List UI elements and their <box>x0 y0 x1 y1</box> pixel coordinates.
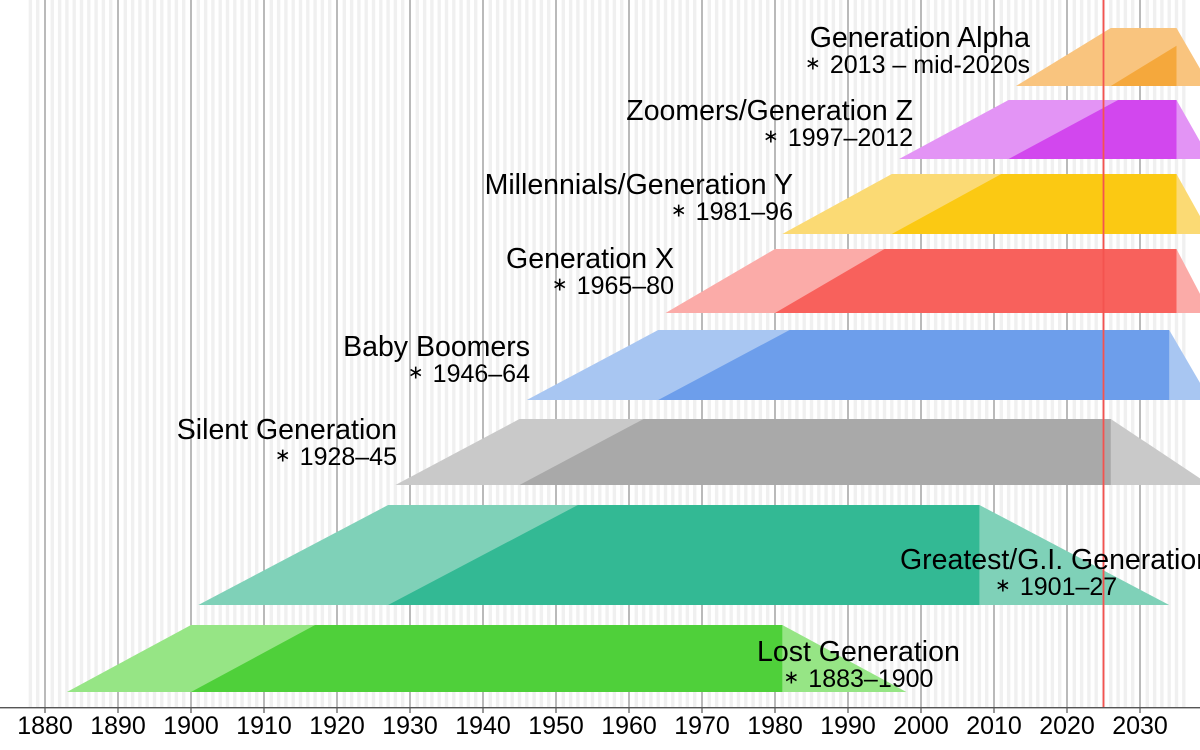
generation-name: Lost Generation <box>757 638 960 667</box>
generation-label: Zoomers/Generation Z∗ 1997–2012 <box>626 97 913 152</box>
x-tick-label: 1920 <box>309 712 365 741</box>
generation-years-text: 1928–45 <box>293 443 397 471</box>
generation-years-text: 1883–1900 <box>801 665 933 693</box>
generation-label: Silent Generation∗ 1928–45 <box>177 416 397 471</box>
generation-label: Generation X∗ 1965–80 <box>506 245 674 300</box>
x-tick-label: 1940 <box>455 712 511 741</box>
x-tick-label: 1890 <box>90 712 146 741</box>
generation-name: Generation Alpha <box>805 24 1030 53</box>
generation-years-text: 1946–64 <box>426 360 530 388</box>
generations-timeline-chart: 1880189019001910192019301940195019601970… <box>0 0 1200 750</box>
x-tick-label: 1960 <box>601 712 657 741</box>
generation-name: Silent Generation <box>177 416 397 445</box>
generation-years-text: 1997–2012 <box>781 124 913 152</box>
generation-years-text: 1965–80 <box>570 272 674 300</box>
generation-years: ∗ 1901–27 <box>900 575 1200 601</box>
generation-years: ∗ 1981–96 <box>485 200 793 226</box>
x-tick-label: 1910 <box>236 712 292 741</box>
generation-label: Greatest/G.I. Generation∗ 1901–27 <box>900 546 1200 601</box>
birth-asterisk-icon: ∗ <box>552 275 570 296</box>
generation-years-text: 1901–27 <box>1013 573 1117 601</box>
birth-asterisk-icon: ∗ <box>408 363 426 384</box>
generation-label: Lost Generation∗ 1883–1900 <box>757 638 960 693</box>
x-tick-label: 1900 <box>163 712 219 741</box>
generation-years-text: 1981–96 <box>689 198 793 226</box>
generation-name: Greatest/G.I. Generation <box>900 546 1200 575</box>
birth-asterisk-icon: ∗ <box>783 668 801 689</box>
generation-years: ∗ 1946–64 <box>343 362 530 388</box>
birth-asterisk-icon: ∗ <box>805 54 823 75</box>
birth-asterisk-icon: ∗ <box>275 446 293 467</box>
generation-years: ∗ 1928–45 <box>177 445 397 471</box>
birth-asterisk-icon: ∗ <box>671 201 689 222</box>
generation-name: Baby Boomers <box>343 333 530 362</box>
generation-name: Millennials/Generation Y <box>485 171 793 200</box>
generation-label: Generation Alpha∗ 2013 – mid-2020s <box>805 24 1030 79</box>
x-tick-label: 1930 <box>382 712 438 741</box>
x-tick-label: 1980 <box>747 712 803 741</box>
generation-years: ∗ 1883–1900 <box>757 667 960 693</box>
generation-name: Generation X <box>506 245 674 274</box>
x-tick-label: 2030 <box>1112 712 1168 741</box>
generation-years: ∗ 1965–80 <box>506 274 674 300</box>
generation-years: ∗ 2013 – mid-2020s <box>805 53 1030 79</box>
x-tick-label: 2020 <box>1039 712 1095 741</box>
generation-name: Zoomers/Generation Z <box>626 97 913 126</box>
generation-years-text: 2013 – mid-2020s <box>823 51 1030 79</box>
x-tick-label: 1990 <box>820 712 876 741</box>
generation-label: Millennials/Generation Y∗ 1981–96 <box>485 171 793 226</box>
x-tick-label: 1950 <box>528 712 584 741</box>
x-tick-label: 1970 <box>674 712 730 741</box>
chart-plot-area <box>0 0 1200 750</box>
x-tick-label: 2000 <box>893 712 949 741</box>
x-tick-label: 1880 <box>17 712 73 741</box>
generation-years: ∗ 1997–2012 <box>626 126 913 152</box>
generation-label: Baby Boomers∗ 1946–64 <box>343 333 530 388</box>
birth-asterisk-icon: ∗ <box>995 576 1013 597</box>
birth-asterisk-icon: ∗ <box>763 127 781 148</box>
x-tick-label: 2010 <box>966 712 1022 741</box>
